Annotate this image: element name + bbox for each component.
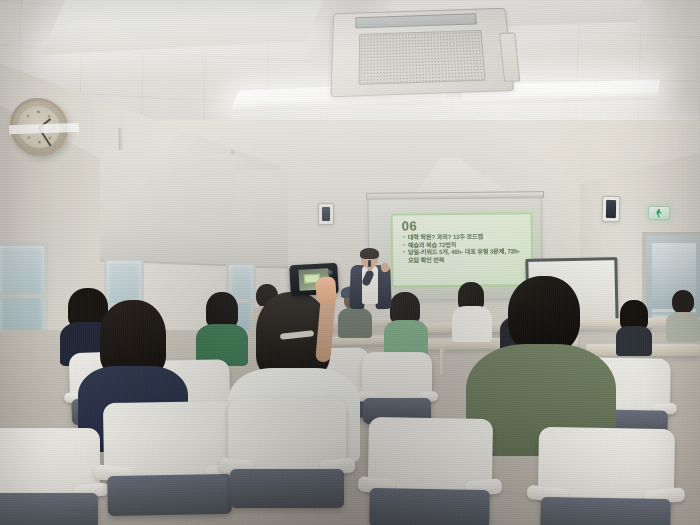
- chair-mesh: [241, 408, 333, 464]
- foreground-chair-center-left[interactable]: [103, 401, 235, 525]
- foreground-chair-left[interactable]: [0, 428, 100, 525]
- chair-mesh: [553, 437, 660, 494]
- chair-seat: [540, 496, 671, 525]
- foreground-chair-center[interactable]: [228, 398, 346, 520]
- chair-seat: [370, 488, 490, 525]
- ac-grille: [359, 30, 486, 85]
- torso: [666, 312, 700, 342]
- foreground-chair-right[interactable]: [537, 427, 675, 525]
- camera-lens-icon: [328, 270, 333, 275]
- microphone-icon: [368, 260, 371, 267]
- ceiling-air-conditioner: [330, 8, 514, 98]
- wall-speaker-left: [318, 203, 334, 225]
- chair-mesh: [0, 437, 87, 488]
- slide-bullet-3: 당일-키워드 5개, 48h- 대표 유형 3문제, 72h- 오답 확인 반복: [402, 248, 525, 264]
- speaker-cone: [322, 207, 330, 221]
- head: [508, 276, 580, 354]
- head: [672, 290, 694, 314]
- chair-mesh: [370, 358, 425, 395]
- desk-leg: [440, 348, 445, 374]
- running-man-icon: [655, 209, 664, 218]
- chair-seat: [0, 493, 98, 525]
- lecture-room-photo: 06 대학 학원? 과외? 12주 로드맵 예습과 복습 72법칙 당일-키워드…: [0, 0, 700, 525]
- chair-mesh: [382, 427, 480, 485]
- attendee-back-right: [616, 300, 652, 350]
- torso: [384, 320, 428, 356]
- attendee-far-right: [666, 290, 700, 338]
- chair-mesh: [117, 411, 219, 471]
- wall-speaker-right: [602, 196, 620, 222]
- slide-number: 06: [402, 218, 525, 232]
- chair-seat: [107, 474, 232, 516]
- hair: [100, 300, 166, 376]
- chair-seat: [230, 469, 343, 508]
- roller-blind-1[interactable]: [100, 149, 236, 266]
- presenter-hair: [360, 248, 379, 259]
- ac-vane: [355, 13, 477, 28]
- roller-blind-2[interactable]: [236, 169, 288, 268]
- emergency-exit-sign: [648, 206, 670, 220]
- speaker-cone: [606, 200, 616, 218]
- foreground-chair-center-right[interactable]: [367, 417, 493, 525]
- hand-holding-phone: [315, 276, 337, 303]
- torso: [616, 326, 652, 356]
- window-mullion: [0, 294, 44, 298]
- slide-bullet-list: 대학 학원? 과외? 12주 로드맵 예습과 복습 72법칙 당일-키워드 5개…: [402, 233, 525, 265]
